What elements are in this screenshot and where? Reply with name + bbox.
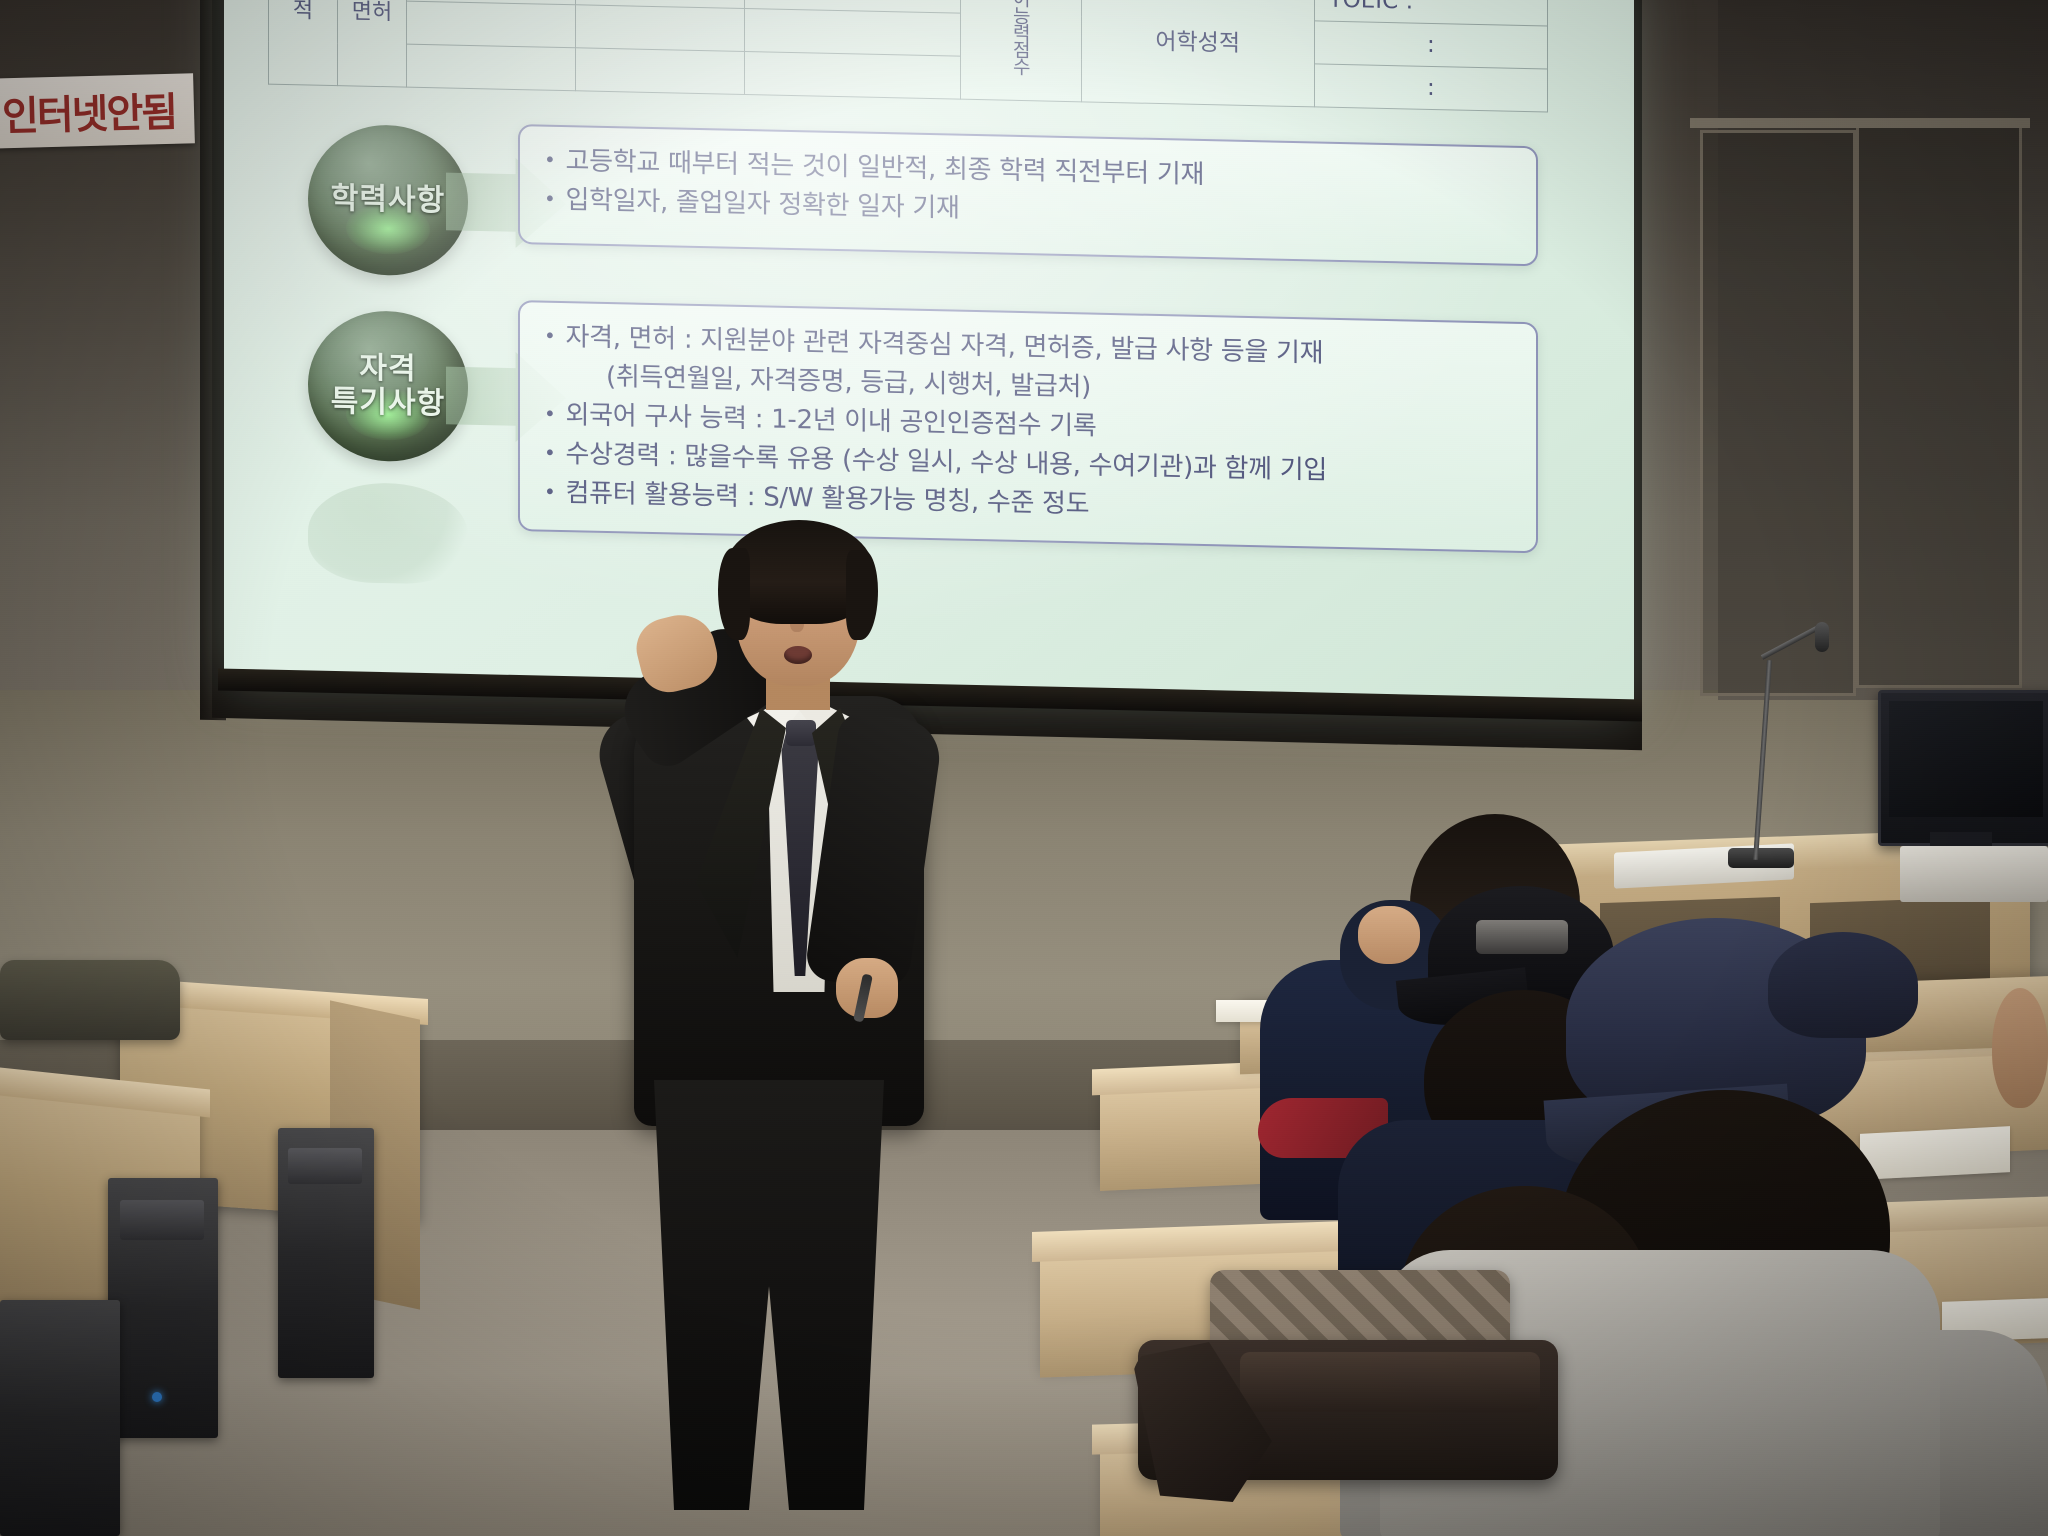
pc-tower-3: [0, 1300, 120, 1536]
cell-score-3: :: [1314, 64, 1547, 112]
cell-blank: [407, 1, 576, 48]
presenter-trousers: [644, 1080, 894, 1510]
section-qualification: 자격 특기사항 자격, 면허 : 지원분야 관련 자격중심 자격, 면허증, 발…: [268, 295, 1598, 544]
student-5-head: [1992, 988, 2048, 1108]
cell-blank: [576, 5, 745, 52]
cell-foreign-lang-score: 외국어능력점수: [960, 0, 1081, 102]
bag-on-desk-left: [0, 960, 180, 1040]
badge-qual-line2: 특기사항: [331, 384, 445, 421]
callout-education: 고등학교 때부터 적는 것이 일반적, 최종 학력 직전부터 기재 입학일자, …: [518, 124, 1538, 266]
wall-sign-no-internet: 인터넷안됨: [0, 73, 195, 148]
callout-qualification: 자격, 면허 : 지원분야 관련 자격중심 자격, 면허증, 발급 사항 등을 …: [518, 300, 1538, 553]
monitor-screen: [1889, 701, 2043, 817]
presenter-mouth: [784, 646, 812, 664]
cell-blank: [407, 44, 576, 91]
pc-power-led: [152, 1392, 162, 1402]
window-frame-2: [1856, 122, 2022, 688]
bag-flap: [1240, 1352, 1540, 1412]
badge-qual-line1: 자격: [359, 350, 416, 386]
student-1-hand: [1358, 906, 1420, 964]
presenter-hair-side-left: [718, 548, 750, 640]
desktop-monitor: [1878, 690, 2048, 846]
student-2-cap-logo: [1476, 920, 1568, 954]
cell-blank: [576, 48, 745, 95]
certificate-table: 성적 자격면허 자격명 취득일 발급기관 외국어능력점수 취미/특기 어학성적: [268, 0, 1548, 113]
paper-sheet-1: [1860, 1126, 2010, 1180]
microphone-head: [1815, 622, 1829, 652]
cell-achievement-label: 성적: [269, 0, 338, 86]
badge-qualification: 자격 특기사항: [308, 309, 468, 462]
presenter-hair-side-right: [846, 550, 878, 640]
presenter-tie-knot: [786, 720, 816, 746]
student-5-cap: [1768, 932, 1918, 1038]
section-education: 학력사항 고등학교 때부터 적는 것이 일반적, 최종 학력 직전부터 기재 입…: [268, 119, 1598, 298]
wall-divider: [1690, 118, 2030, 128]
slide-content: 경 력 년 월 대학원 전공 졸업(예정, 수료): [268, 0, 1598, 544]
cell-blank: [745, 8, 961, 56]
cell-lang-score-label: 어학성적: [1081, 0, 1314, 107]
badge-qualification-label: 자격 특기사항: [331, 350, 445, 421]
pc-front-panel: [120, 1200, 204, 1240]
cell-blank: [745, 51, 961, 99]
lecture-hall-photo: 경 력 년 월 대학원 전공 졸업(예정, 수료): [0, 0, 2048, 1536]
badge-education: 학력사항: [308, 123, 468, 276]
microphone-base: [1728, 848, 1794, 868]
window-frame-1: [1700, 130, 1856, 696]
cell-cert-label: 자격면허: [338, 0, 407, 87]
presenter: [600, 520, 940, 1536]
desktop-printer: [1900, 846, 2048, 902]
wall-sign-text: 인터넷안됨: [1, 80, 176, 143]
cell-score-2: :: [1314, 21, 1547, 69]
badge-education-label: 학력사항: [331, 182, 445, 219]
pc-front-panel: [288, 1148, 362, 1184]
